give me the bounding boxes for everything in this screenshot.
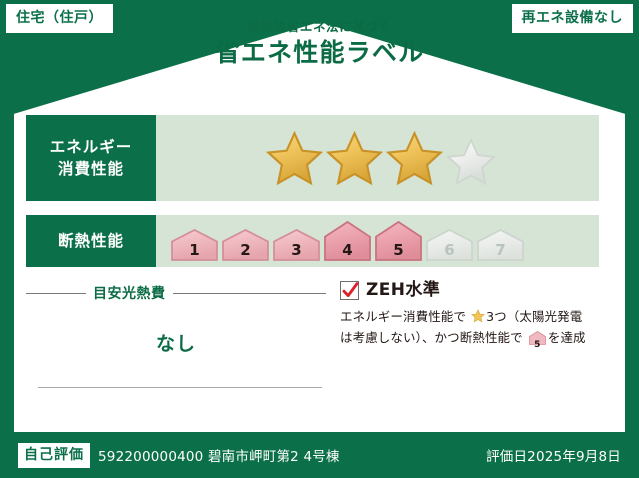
inline-star-icon [471, 309, 485, 323]
zeh-desc-part1: エネルギー消費性能で [340, 309, 466, 324]
energy-performance-value [156, 115, 599, 201]
insulation-grade-5: 5 [374, 220, 423, 262]
insulation-grade-3: 3 [272, 228, 321, 262]
insulation-grade-1: 1 [170, 228, 219, 262]
energy-performance-label: エネルギー 消費性能 [26, 115, 156, 201]
insulation-grade-4: 4 [323, 220, 372, 262]
zeh-desc-part2: 3つ（太陽光発電 [486, 309, 582, 324]
energy-performance-label-line1: エネルギー [50, 136, 133, 158]
insulation-grade-value: 4 [323, 243, 372, 258]
energy-cost-value: なし [26, 329, 326, 356]
insulation-grade-6: 6 [425, 228, 474, 262]
inline-grade-badge: 5 [529, 331, 546, 352]
insulation-grade-value: 1 [170, 243, 219, 258]
star-empty-icon [446, 137, 496, 187]
insulation-grade-value: 6 [425, 243, 474, 258]
zeh-description: エネルギー消費性能で 3つ（太陽光発電 は考慮しない）、かつ断熱性能で 5 を達… [340, 307, 599, 351]
insulation-performance-label: 断熱性能 [26, 215, 156, 267]
insulation-grade-2: 2 [221, 228, 270, 262]
insulation-performance-value: 1234567 [156, 215, 599, 267]
insulation-performance-label-text: 断熱性能 [58, 230, 124, 252]
energy-cost-rule-right [173, 293, 327, 294]
insulation-grade-value: 3 [272, 243, 321, 258]
star-filled-icon [266, 130, 323, 187]
star-filled-icon [326, 130, 383, 187]
insulation-grade-value: 5 [374, 243, 423, 258]
label-content: エネルギー 消費性能 断熱性能 1234567 目安光熱費 [26, 115, 613, 356]
energy-cost-underline [38, 387, 322, 388]
building-type-tag: 住宅（住戸） [6, 4, 113, 33]
label-footer: 自己評価 592200000400 碧南市岬町第2 4号棟 評価日2025年9月… [0, 432, 639, 478]
insulation-performance-row: 断熱性能 1234567 [26, 215, 599, 267]
inline-grade-value: 5 [529, 341, 546, 350]
footer-left-group: 自己評価 592200000400 碧南市岬町第2 4号棟 [18, 443, 340, 468]
insulation-grade-scale: 1234567 [170, 220, 525, 262]
zeh-checkbox-checked [340, 281, 359, 300]
star-filled-icon [386, 130, 443, 187]
insulation-grade-7: 7 [476, 228, 525, 262]
evaluation-type-badge: 自己評価 [18, 443, 90, 468]
energy-performance-row: エネルギー 消費性能 [26, 115, 599, 201]
zeh-desc-part3: は考慮しない）、かつ断熱性能で [340, 330, 523, 345]
insulation-grade-value: 2 [221, 243, 270, 258]
insulation-grade-value: 7 [476, 243, 525, 258]
zeh-heading: ZEH水準 [340, 281, 599, 300]
energy-performance-label-line2: 消費性能 [58, 158, 124, 180]
zeh-title: ZEH水準 [366, 282, 440, 299]
energy-cost-heading: 目安光熱費 [26, 283, 326, 303]
energy-cost-title: 目安光熱費 [93, 283, 166, 303]
zeh-desc-part4: を達成 [548, 330, 586, 345]
energy-performance-label: 住宅（住戸） 再エネ設備なし 建築物省エネ法に基づく 省エネ性能ラベル エネルギ… [0, 0, 639, 478]
star-rating [266, 130, 496, 187]
lower-section: 目安光熱費 なし ZEH水準 エネルギー消費性能で [26, 281, 599, 356]
energy-cost-section: 目安光熱費 なし [26, 281, 326, 356]
label-title: 省エネ性能ラベル [0, 39, 639, 68]
renewable-energy-tag: 再エネ設備なし [512, 4, 634, 33]
zeh-section: ZEH水準 エネルギー消費性能で 3つ（太陽光発電 は考慮しない）、かつ断熱性能… [326, 281, 599, 356]
energy-cost-rule-left [26, 293, 86, 294]
footer-id-address: 592200000400 碧南市岬町第2 4号棟 [98, 445, 340, 465]
footer-evaluation-date: 評価日2025年9月8日 [486, 445, 621, 465]
